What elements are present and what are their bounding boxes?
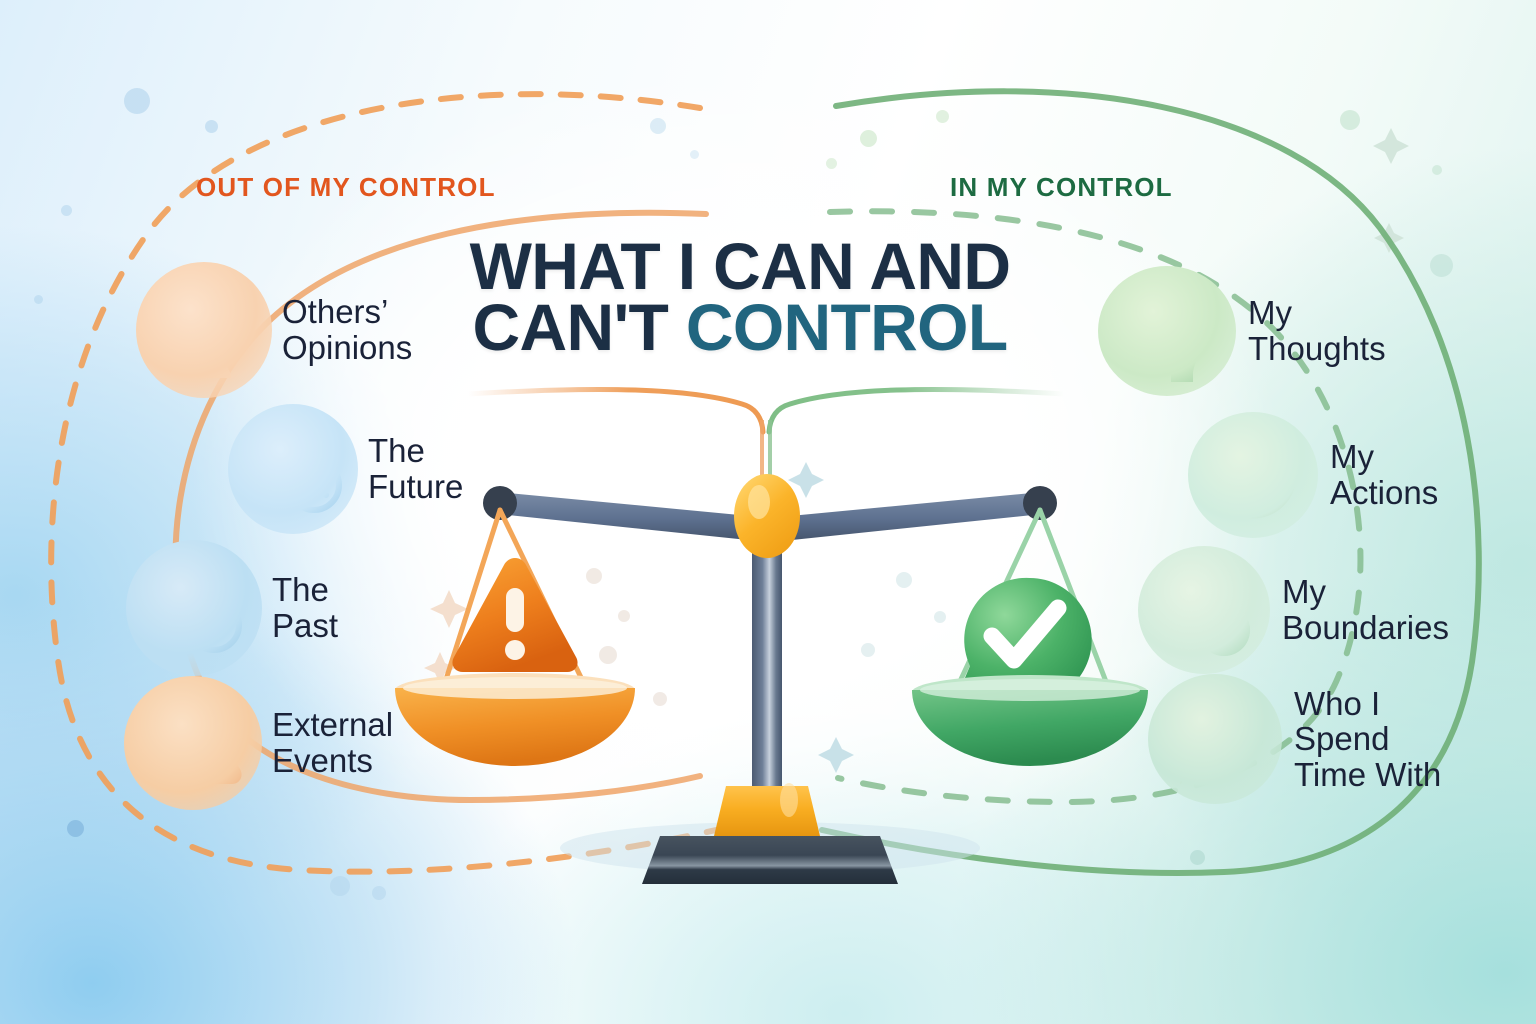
panel-heading-right: IN MY CONTROL: [950, 172, 1173, 203]
smiley-face-icon: [1188, 412, 1318, 538]
list-item-label: My Thoughts: [1248, 295, 1386, 366]
list-item-label: Others’ Opinions: [282, 294, 412, 365]
head-lightbulb-icon: [1098, 266, 1236, 396]
panel-heading-left: OUT OF MY CONTROL: [196, 172, 496, 203]
balance-scale: [420, 470, 1120, 890]
infographic-canvas: OUT OF MY CONTROL IN MY CONTROL WHAT I C…: [0, 0, 1536, 1024]
calendar-clock-rewind-icon: [126, 540, 262, 676]
list-item-who-i-spend-time-with[interactable]: Who I Spend Time With: [1148, 674, 1441, 804]
page-title: WHAT I CAN AND CAN'T CONTROL: [440, 236, 1040, 357]
warning-triangle-icon: [124, 676, 262, 810]
list-item-my-boundaries[interactable]: My Boundaries: [1138, 546, 1449, 674]
title-line-1: WHAT I CAN AND: [440, 236, 1040, 297]
list-item-label: My Boundaries: [1282, 574, 1449, 645]
list-item-the-past[interactable]: The Past: [126, 540, 338, 676]
list-item-my-actions[interactable]: My Actions: [1188, 412, 1438, 538]
calendar-clock-icon: [228, 404, 358, 534]
list-item-label: External Events: [272, 707, 393, 778]
list-item-label: The Past: [272, 572, 338, 643]
list-item-external-events[interactable]: External Events: [124, 676, 393, 810]
list-item-label: My Actions: [1330, 439, 1438, 510]
checklist-check-icon: [1138, 546, 1270, 674]
list-item-my-thoughts[interactable]: My Thoughts: [1098, 266, 1386, 396]
list-item-others-opinions[interactable]: Others’ Opinions: [136, 262, 412, 398]
title-accent: CONTROL: [686, 290, 1008, 364]
list-item-label: Who I Spend Time With: [1294, 686, 1441, 793]
title-plain: CAN'T: [472, 290, 685, 364]
two-chat-bubbles-icon: [1148, 674, 1282, 804]
title-line-2: CAN'T CONTROL: [440, 297, 1040, 358]
speech-bubble-people-icon: [136, 262, 272, 398]
